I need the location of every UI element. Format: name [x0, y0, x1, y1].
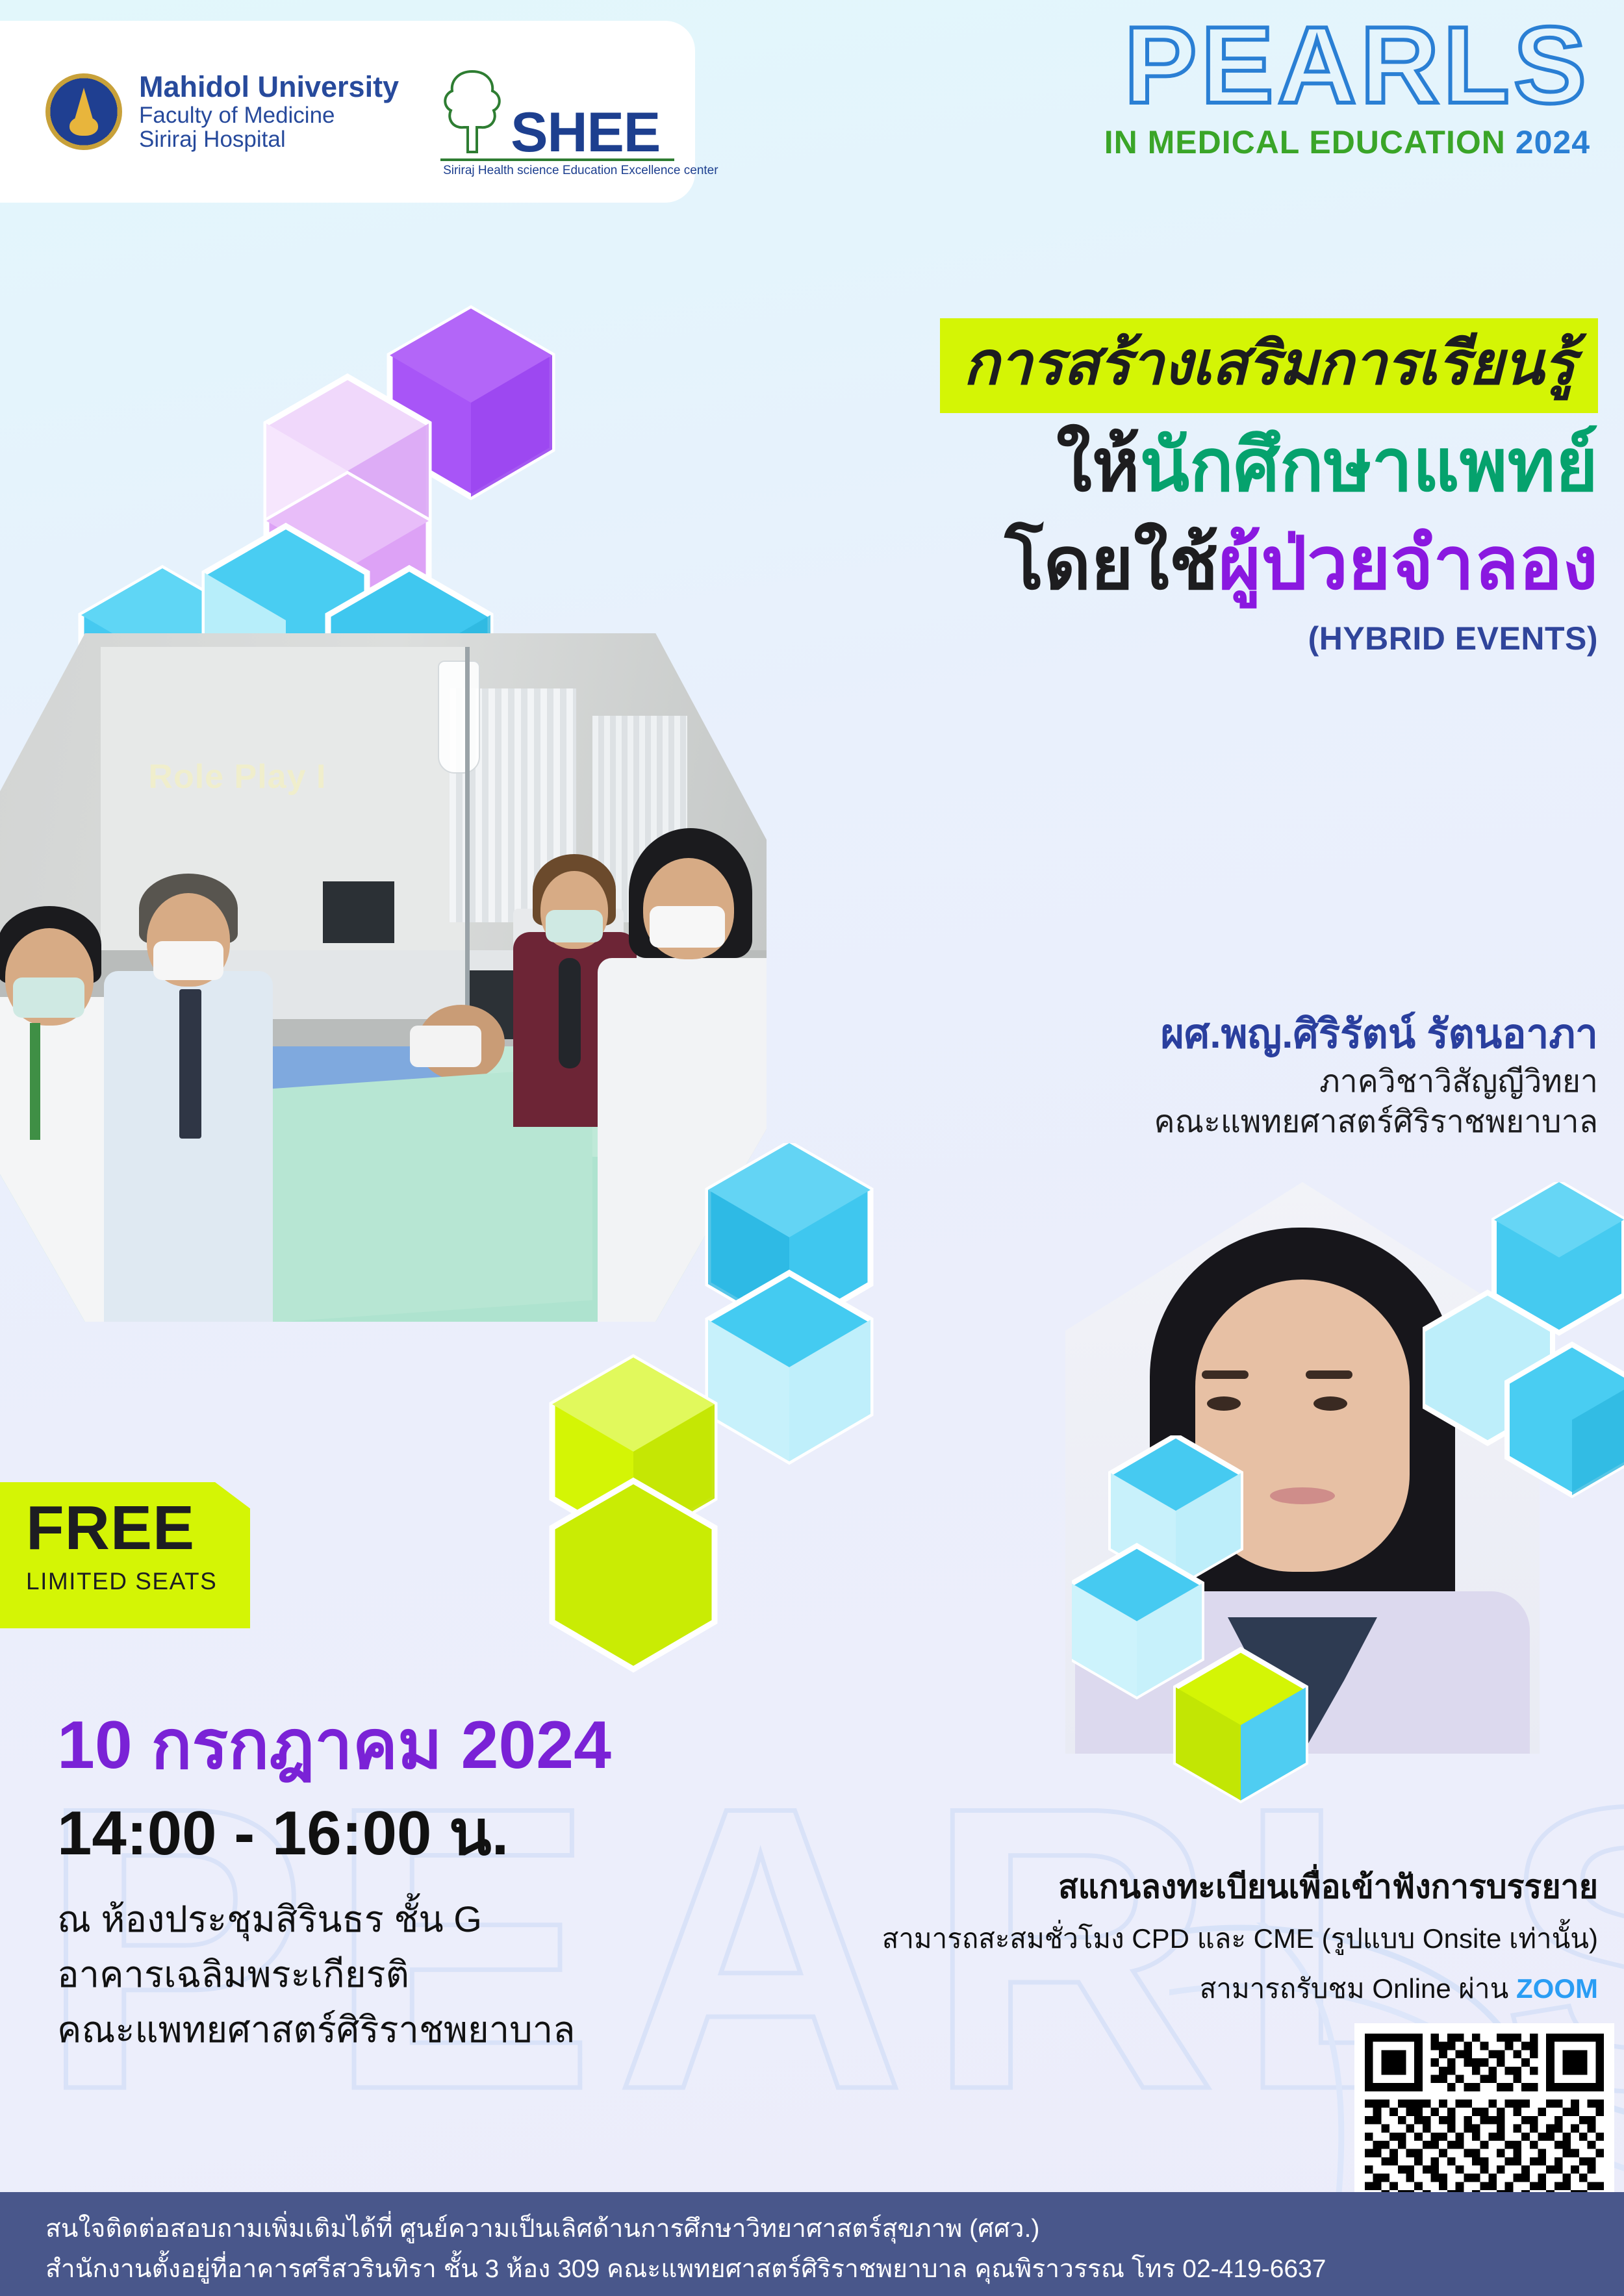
title-line-1: การสร้างเสริมการเรียนรู้: [940, 318, 1598, 413]
mahidol-faculty: Faculty of Medicine: [139, 103, 399, 128]
shee-logo: SHEE Siriraj Health science Education Ex…: [437, 66, 660, 157]
event-venue-line-1: ณ ห้องประชุมสิรินธร ชั้น G: [57, 1891, 772, 1947]
free-badge-title: FREE: [26, 1499, 250, 1558]
registration-credits: สามารถสะสมชั่วโมง CPD และ CME (รูปแบบ On…: [754, 1917, 1598, 1960]
title-line-3: โดยใช้ผู้ป่วยจำลอง: [702, 518, 1598, 609]
event-details-block: 10 กรกฎาคม 2024 14:00 - 16:00 น. ณ ห้องป…: [57, 1708, 772, 2057]
event-time: 14:00 - 16:00 น.: [57, 1799, 772, 1868]
speaker-department: ภาควิชาวิสัญญีวิทยา: [818, 1062, 1598, 1102]
registration-headline: สแกนลงทะเบียนเพื่อเข้าฟังการบรรยาย: [754, 1864, 1598, 1910]
shee-acronym: SHEE: [511, 109, 660, 157]
projected-role-play-text: Role Play I: [148, 757, 326, 796]
shee-subtitle: Siriraj Health science Education Excelle…: [443, 164, 718, 178]
brand-title: PEARLS: [1104, 10, 1590, 120]
title-line-2-accent: นักศึกษาแพทย์: [1140, 425, 1598, 506]
shee-rule: [440, 158, 674, 161]
event-venue-line-2: อาคารเฉลิมพระเกียรติ: [57, 1947, 772, 2002]
institution-logo-card: Mahidol University Faculty of Medicine S…: [0, 21, 695, 203]
brand-subtitle: IN MEDICAL EDUCATION 2024: [1104, 123, 1590, 161]
mahidol-logo: Mahidol University Faculty of Medicine S…: [45, 71, 399, 152]
registration-block: สแกนลงทะเบียนเพื่อเข้าฟังการบรรยาย สามาร…: [754, 1864, 1598, 2010]
free-badge: FREE LIMITED SEATS: [0, 1482, 250, 1628]
footer-line-1: สนใจติดต่อสอบถามเพิ่มเติมได้ที่ ศูนย์ควา…: [45, 2209, 1624, 2249]
event-date: 10 กรกฎาคม 2024: [57, 1708, 772, 1782]
free-badge-subtitle: LIMITED SEATS: [26, 1568, 250, 1595]
mahidol-seal-icon: [45, 73, 122, 150]
footer-line-2: สำนักงานตั้งอยู่ที่อาคารศรีสวรินทิรา ชั้…: [45, 2249, 1624, 2290]
brand-title-block: PEARLS IN MEDICAL EDUCATION 2024: [1104, 10, 1590, 161]
event-format-label: (HYBRID EVENTS): [702, 620, 1598, 657]
title-line-2: ให้นักศึกษาแพทย์: [702, 420, 1598, 511]
zoom-label: ZOOM: [1516, 1973, 1598, 2004]
registration-online: สามารถรับชม Online ผ่าน ZOOM: [754, 1967, 1598, 2010]
poster-title-block: การสร้างเสริมการเรียนรู้ ให้นักศึกษาแพทย…: [702, 318, 1598, 657]
title-line-3-prefix: โดยใช้: [1004, 523, 1218, 604]
tree-icon: [437, 66, 508, 157]
speaker-name: ผศ.พญ.ศิริรัตน์ รัตนอาภา: [818, 1010, 1598, 1059]
hexagon-cluster-speaker-left: [1072, 1435, 1364, 1851]
contact-footer: สนใจติดต่อสอบถามเพิ่มเติมได้ที่ ศูนย์ควา…: [0, 2192, 1624, 2296]
hexagon-cluster-lower: [513, 1143, 916, 1682]
brand-subtitle-text: IN MEDICAL EDUCATION: [1104, 124, 1506, 160]
speaker-info-block: ผศ.พญ.ศิริรัตน์ รัตนอาภา ภาควิชาวิสัญญีว…: [818, 1010, 1598, 1142]
registration-online-prefix: สามารถรับชม Online ผ่าน: [1200, 1973, 1516, 2004]
event-venue-line-3: คณะแพทยศาสตร์ศิริราชพยาบาล: [57, 2002, 772, 2057]
mahidol-hospital: Siriraj Hospital: [139, 127, 399, 152]
poster-canvas: PEARLS Mahidol University Faculty of Med…: [0, 0, 1624, 2296]
speaker-faculty: คณะแพทยศาสตร์ศิริราชพยาบาล: [818, 1102, 1598, 1142]
brand-year: 2024: [1516, 124, 1590, 160]
hexagon-cluster-speaker-right: [1423, 1182, 1624, 1520]
title-line-2-prefix: ให้: [1056, 425, 1140, 506]
person-teacher: [104, 874, 273, 1322]
mahidol-name: Mahidol University: [139, 71, 399, 103]
title-line-3-accent: ผู้ป่วยจำลอง: [1219, 523, 1598, 604]
